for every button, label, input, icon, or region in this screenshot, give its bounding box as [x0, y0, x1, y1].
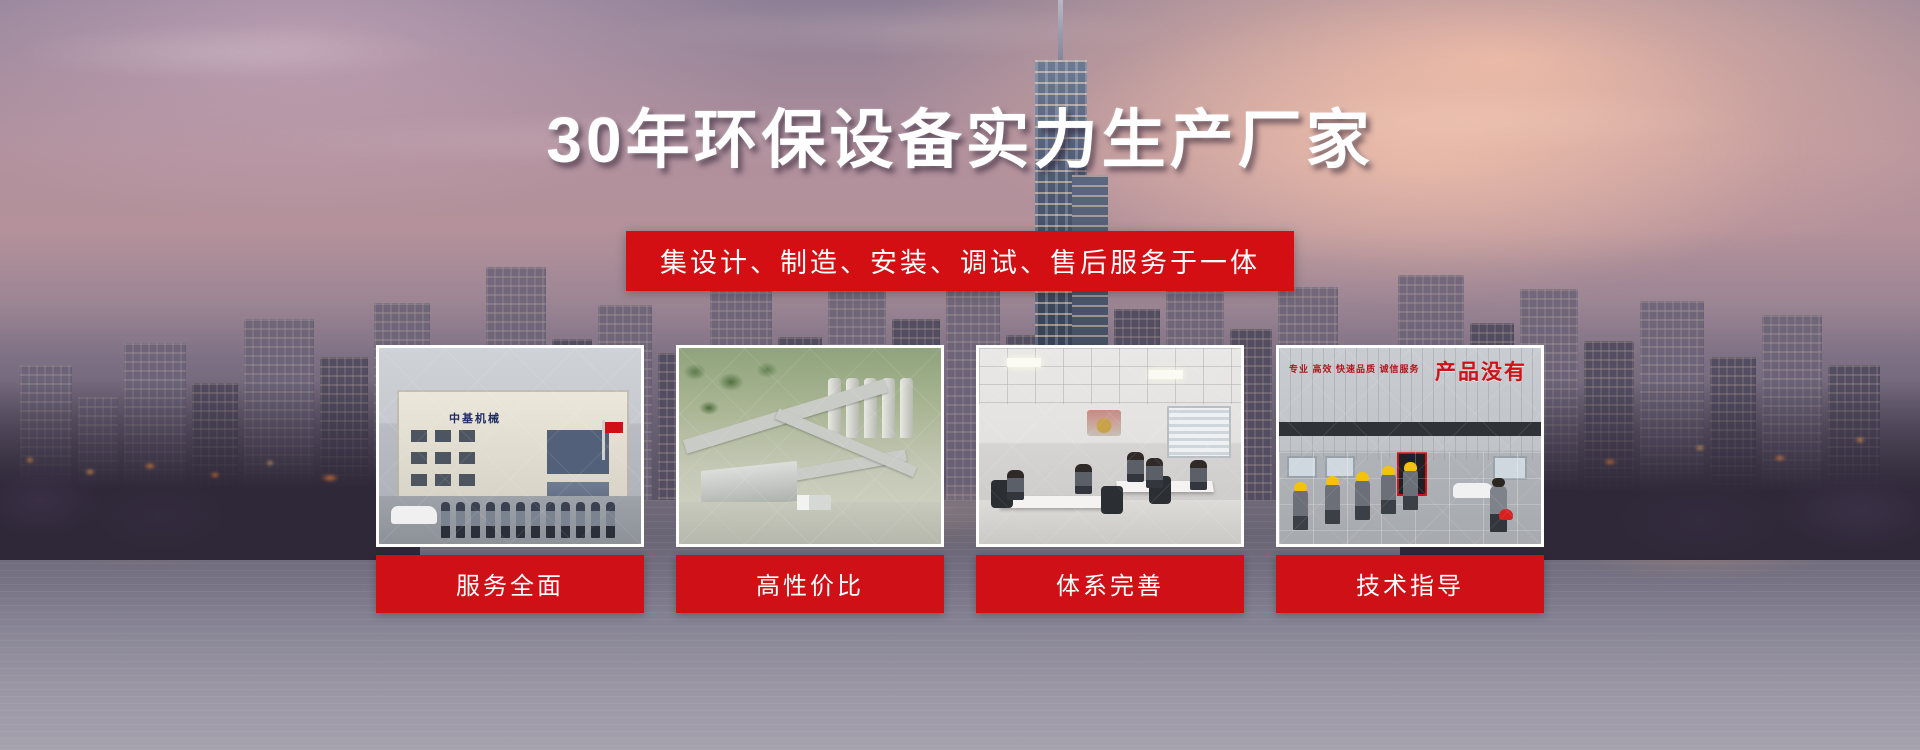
hero-banner: 30年环保设备实力生产厂家 集设计、制造、安装、调试、售后服务于一体 中基机械	[0, 0, 1920, 750]
staff-lineup	[441, 502, 615, 538]
card-caption: 体系完善	[976, 555, 1244, 613]
card-photo-office-building: 中基机械	[376, 345, 644, 547]
wall-decoration	[1087, 410, 1121, 436]
card-photo-factory-workers: 产品没有 专业 高效 快速品质 诚信服务	[1276, 345, 1544, 547]
banner-subtitle: 集设计、制造、安装、调试、售后服务于一体	[626, 231, 1294, 291]
subtitle-container: 集设计、制造、安装、调试、售后服务于一体	[0, 231, 1920, 291]
office-window	[1167, 406, 1231, 458]
card-photo-plant-aerial	[676, 345, 944, 547]
banner-headline: 30年环保设备实力生产厂家	[0, 108, 1920, 172]
feature-card[interactable]: 体系完善	[976, 345, 1244, 613]
feature-card[interactable]: 产品没有 专业 高效 快速品质 诚信服务 技术指导	[1276, 345, 1544, 613]
feature-card-row: 中基机械	[376, 345, 1544, 613]
workshop-slogan: 产品没有	[1435, 356, 1527, 386]
parked-car	[1453, 483, 1493, 498]
workshop-wall: 产品没有 专业 高效 快速品质 诚信服务	[1279, 348, 1541, 460]
red-helmet	[1499, 509, 1513, 520]
feature-card[interactable]: 中基机械	[376, 345, 644, 613]
parked-car	[391, 506, 437, 524]
feature-card[interactable]: 高性价比	[676, 345, 944, 613]
left-city-lights	[0, 430, 430, 500]
delivery-truck	[797, 495, 831, 510]
flag-pole	[602, 420, 605, 460]
company-sign: 中基机械	[449, 410, 501, 426]
card-photo-office-interior	[976, 345, 1244, 547]
wall-band	[1279, 422, 1541, 436]
building-facade: 中基机械	[397, 390, 629, 508]
workshop-slogan-small: 专业 高效 快速品质 诚信服务	[1289, 364, 1420, 376]
card-caption: 服务全面	[376, 555, 644, 613]
card-caption: 高性价比	[676, 555, 944, 613]
ceiling-grid	[979, 348, 1241, 404]
card-caption: 技术指导	[1276, 555, 1544, 613]
